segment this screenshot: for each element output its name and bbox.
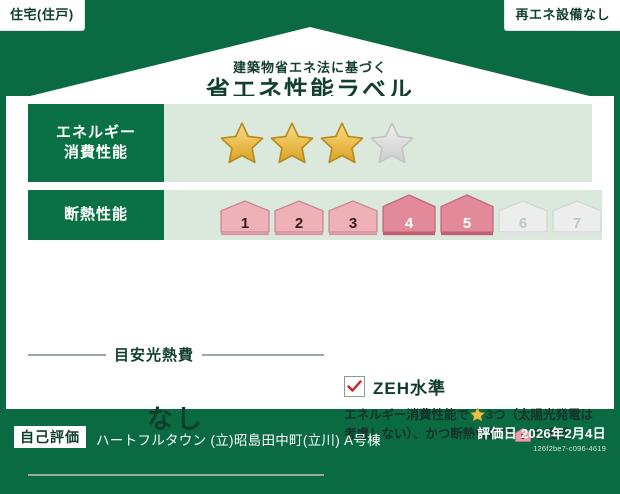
insulation-level-2: 2 [274,200,324,236]
insulation-level-7: 7 [552,200,602,236]
divider-left [28,354,106,356]
insulation-performance-row: 断熱性能 1234567 [28,190,592,240]
insulation-level-number: 3 [328,216,378,231]
energy-performance-row: エネルギー 消費性能 [28,104,592,182]
utility-cost-title: 目安光熱費 [114,344,194,365]
zeh-header: ZEH水準 [344,374,604,399]
star-filled-icon [320,121,364,165]
star-empty-icon [370,121,414,165]
zeh-checkbox[interactable] [344,376,365,397]
star-rating [220,121,414,165]
label-body-panel: エネルギー 消費性能 断熱性能 1234567 目安光熱費 [6,96,614,409]
star-filled-icon [270,121,314,165]
energy-label-line2: 消費性能 [64,144,128,161]
insulation-level-number: 7 [552,216,602,231]
self-evaluation-badge: 自己評価 [14,426,86,448]
roof-shape: 建築物省エネ法に基づく 省エネ性能ラベル [6,27,614,102]
energy-label-line1: エネルギー [56,124,136,141]
divider-right [202,354,324,356]
zeh-title: ZEH水準 [373,374,446,399]
evaluation-id: 126f2be7-c096-4619 [477,444,606,453]
insulation-level-number: 4 [382,216,436,231]
insulation-level-5: 5 [440,194,494,236]
utility-cost-bottom-divider [28,474,324,476]
label-footer: 自己評価 ハートフルタウン (立)昭島田中町(立川) A号棟 評価日 2026年… [0,414,620,462]
insulation-level-number: 5 [440,216,494,231]
insulation-level-4: 4 [382,194,436,236]
insulation-level-3: 3 [328,200,378,236]
check-icon [347,380,362,393]
project-name: ハートフルタウン (立)昭島田中町(立川) A号棟 [96,429,381,449]
insulation-level-number: 2 [274,216,324,231]
insulation-level-scale: 1234567 [220,194,602,236]
energy-performance-label: 住宅(住戸) 再エネ設備なし 建築物省エネ法に基づく 省エネ性能ラベル エネルギ… [0,0,620,462]
insulation-performance-label: 断熱性能 [28,190,164,240]
evaluation-info: 評価日 2026年2月4日 126f2be7-c096-4619 [477,423,606,453]
star-filled-icon [220,121,264,165]
energy-performance-value [164,104,592,182]
insulation-level-number: 1 [220,216,270,231]
insulation-level-number: 6 [498,216,548,231]
evaluation-date: 評価日 2026年2月4日 [477,423,606,442]
insulation-level-1: 1 [220,200,270,236]
insulation-level-6: 6 [498,200,548,236]
energy-performance-label: エネルギー 消費性能 [28,104,164,182]
label-subtitle: 建築物省エネ法に基づく [6,61,614,74]
utility-cost-header: 目安光熱費 [28,344,324,365]
insulation-performance-value: 1234567 [164,190,602,240]
